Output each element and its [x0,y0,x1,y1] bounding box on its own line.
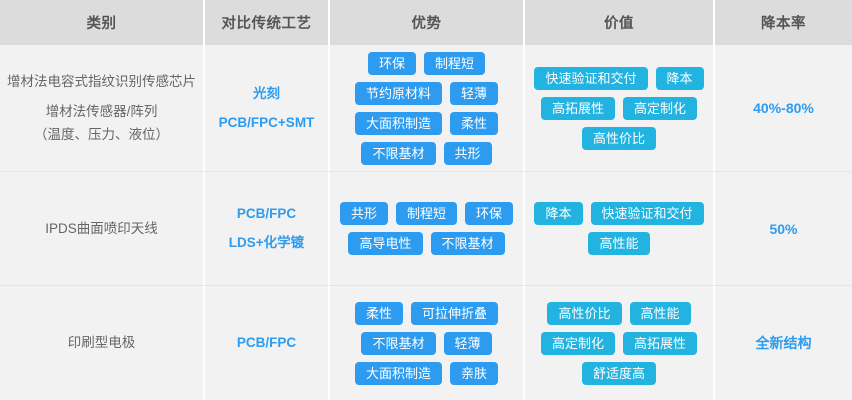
value-tag: 快速验证和交付 [591,202,704,225]
advantage-tag: 共形 [340,202,388,225]
cell-values: 降本 快速验证和交付 高性能 [525,172,713,285]
process-label: 光刻 [253,85,280,103]
category-detail: （温度、压力、液位） [34,125,169,145]
cell-values: 快速验证和交付 降本 高拓展性 高定制化 高性价比 [525,45,713,171]
advantage-tag: 不限基材 [361,332,435,355]
process-label: LDS+化学镀 [229,234,304,252]
cost-reduction-value: 全新结构 [756,333,812,353]
value-tag: 降本 [656,67,704,90]
table-row: IPDS曲面喷印天线 PCB/FPC LDS+化学镀 共形 制程短 环保 高导电… [0,172,852,286]
header-cell-value: 价值 [525,0,713,45]
header-cell-process: 对比传统工艺 [205,0,328,45]
cost-reduction-value: 40%-80% [753,100,814,116]
cell-advantages: 共形 制程短 环保 高导电性 不限基材 [330,172,523,285]
advantage-tag: 环保 [465,202,513,225]
process-label: PCB/FPC [237,334,296,352]
cost-reduction-value: 50% [769,221,797,237]
value-tag: 高性能 [588,232,649,255]
cell-cost-reduction: 40%-80% [715,45,852,171]
table-row: 印刷型电极 PCB/FPC 柔性 可拉伸折叠 不限基材 轻薄 大面积制造 亲肤 [0,286,852,400]
cell-process: 光刻 PCB/FPC+SMT [205,45,328,171]
advantage-tag: 不限基材 [431,232,505,255]
cell-category: 印刷型电极 [0,286,203,400]
process-label: PCB/FPC+SMT [219,114,315,132]
advantage-tag: 高导电性 [348,232,422,255]
category-title: 印刷型电极 [68,333,136,353]
header-cell-cost-reduction: 降本率 [715,0,852,45]
advantage-tag: 轻薄 [444,332,492,355]
value-tag: 舒适度高 [582,362,656,385]
category-subtitle: 增材法传感器/阵列 [46,102,158,122]
process-label: PCB/FPC [237,205,296,223]
category-title: IPDS曲面喷印天线 [45,219,158,239]
advantage-tag: 制程短 [424,52,485,75]
advantage-tag: 可拉伸折叠 [411,302,498,325]
value-tag: 高定制化 [541,332,615,355]
header-cell-category: 类别 [0,0,203,45]
table-body: 增材法电容式指纹识别传感芯片 增材法传感器/阵列 （温度、压力、液位） 光刻 P… [0,45,852,400]
advantage-tag: 不限基材 [361,142,435,165]
advantage-tag: 节约原材料 [355,82,442,105]
advantage-tag: 共形 [444,142,492,165]
cell-cost-reduction: 全新结构 [715,286,852,400]
advantage-tag: 制程短 [396,202,457,225]
comparison-table: 类别 对比传统工艺 优势 价值 降本率 增材法电容式指纹识别传感芯片 增材法传感… [0,0,852,400]
cell-advantages: 柔性 可拉伸折叠 不限基材 轻薄 大面积制造 亲肤 [330,286,523,400]
cell-category: 增材法电容式指纹识别传感芯片 增材法传感器/阵列 （温度、压力、液位） [0,45,203,171]
value-tag: 高性价比 [547,302,621,325]
value-tag: 高性能 [630,302,691,325]
value-tag: 高拓展性 [541,97,615,120]
value-tag: 快速验证和交付 [534,67,647,90]
table-row: 增材法电容式指纹识别传感芯片 增材法传感器/阵列 （温度、压力、液位） 光刻 P… [0,45,852,172]
advantage-tag: 柔性 [355,302,403,325]
advantage-tag: 大面积制造 [355,362,442,385]
cell-advantages: 环保 制程短 节约原材料 轻薄 大面积制造 柔性 不限基材 共形 [330,45,523,171]
value-tag: 高性价比 [582,127,656,150]
advantage-tag: 亲肤 [450,362,498,385]
value-tag: 高拓展性 [623,332,697,355]
cell-values: 高性价比 高性能 高定制化 高拓展性 舒适度高 [525,286,713,400]
advantage-tag: 轻薄 [450,82,498,105]
advantage-tag: 大面积制造 [355,112,442,135]
cell-cost-reduction: 50% [715,172,852,285]
advantage-tag: 环保 [368,52,416,75]
cell-category: IPDS曲面喷印天线 [0,172,203,285]
value-tag: 降本 [534,202,582,225]
header-cell-advantage: 优势 [330,0,523,45]
table-header-row: 类别 对比传统工艺 优势 价值 降本率 [0,0,852,45]
advantage-tag: 柔性 [450,112,498,135]
value-tag: 高定制化 [623,97,697,120]
cell-process: PCB/FPC [205,286,328,400]
category-title: 增材法电容式指纹识别传感芯片 [7,72,196,92]
cell-process: PCB/FPC LDS+化学镀 [205,172,328,285]
